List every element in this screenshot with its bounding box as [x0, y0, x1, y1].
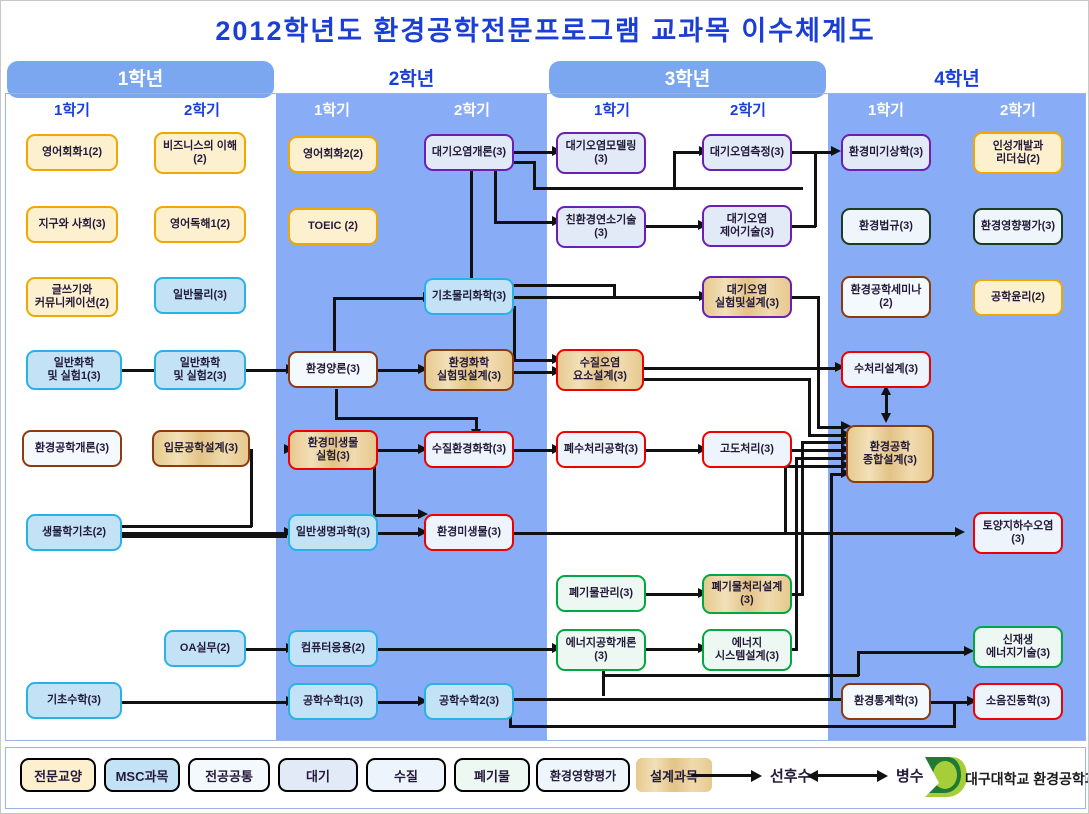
edge-left-riser-v [784, 465, 787, 532]
edge-c19-c32 [378, 648, 555, 651]
edge-c31-c37 [646, 593, 700, 596]
course-box[interactable]: 수처리설계(3) [841, 351, 931, 388]
edge-c21-c35-h2 [613, 296, 701, 299]
course-box[interactable]: 영어회화1(2) [26, 134, 118, 171]
course-box[interactable]: 비즈니스의 이해 (2) [154, 132, 246, 174]
edge-c35-c43-v [817, 296, 820, 428]
edge-c26-c50-v2 [953, 701, 956, 727]
edge-c33-c39-head [831, 146, 841, 156]
edge-c6-riser [250, 449, 253, 527]
edge-c29-c42 [644, 367, 837, 370]
course-box[interactable]: 입문공학설계(3) [152, 430, 250, 467]
course-box[interactable]: 일반화학 및 실험2(3) [154, 350, 246, 390]
edge-c12-h2 [122, 525, 252, 528]
corequisite-arrow-head-right [877, 770, 888, 782]
course-box[interactable]: 환경미생물 실험(3) [288, 430, 378, 470]
edge-c16-c24-h [335, 417, 477, 420]
corequisite-arrow-head-left [807, 770, 818, 782]
edge-c6-to-c17 [122, 535, 287, 538]
edge-c34-c39-h [792, 225, 816, 228]
course-box[interactable]: 고도처리(3) [702, 431, 792, 468]
semester-label-4-1: 1학기 [826, 99, 946, 120]
course-box[interactable]: 폐기물처리설계 (3) [702, 574, 792, 614]
prerequisite-arrow-line [692, 774, 754, 777]
edge-c22-c29-v [513, 306, 516, 361]
edge-c17-c25-h2 [373, 514, 421, 517]
university-department-label: 대구대학교 환경공학과 [965, 769, 1089, 789]
semester-label-2-1: 1학기 [272, 99, 392, 120]
course-box[interactable]: 토양지하수오염 (3) [973, 512, 1063, 554]
course-box[interactable]: TOEIC (2) [288, 208, 378, 245]
course-box[interactable]: 환경공학세미나 (2) [841, 276, 931, 318]
edge-c18-c25 [378, 532, 420, 535]
course-box[interactable]: 환경영향평가(3) [973, 208, 1063, 245]
edge-c23-c29 [514, 371, 555, 374]
edge-c30-c36 [646, 449, 700, 452]
course-box[interactable]: 인성개발과 리더십(2) [973, 132, 1063, 174]
course-box[interactable]: 환경미생물(3) [424, 514, 514, 551]
edge-c6-c18 [122, 532, 286, 535]
page-title: 2012학년도 환경공학전문프로그램 교과목 이수체계도 [1, 9, 1089, 48]
edge-c32-c38 [646, 648, 700, 651]
edge-c35-c43-h [792, 296, 820, 299]
course-box[interactable]: 기초물리화학(3) [424, 278, 514, 315]
edge-c21-c33-h3 [673, 151, 701, 154]
course-box[interactable]: 에너지 시스템설계(3) [702, 629, 792, 671]
course-box[interactable]: 수질오염 요소설계(3) [556, 349, 644, 391]
course-box[interactable]: 폐수처리공학(3) [556, 431, 646, 468]
edge-c13-c19 [246, 648, 288, 651]
course-box[interactable]: 공학수학1(3) [288, 683, 378, 720]
edge-c21-c33-v [533, 161, 536, 189]
course-box[interactable]: 컴퓨터응용(2) [288, 630, 378, 667]
edge-c42-c43-down [881, 413, 891, 423]
semester-label-1-1: 1학기 [12, 99, 132, 120]
edge-c35-c43-h2 [817, 426, 843, 429]
edge-c17-c24 [378, 449, 420, 452]
corequisite-arrow-line [818, 774, 880, 777]
course-box[interactable]: 환경통계학(3) [841, 683, 931, 720]
edge-c21-c35-v1 [470, 171, 473, 287]
edge-c16-c23 [378, 369, 420, 372]
edge-c37-c43-v [801, 449, 804, 595]
course-box[interactable]: 에너지공학개론 (3) [556, 629, 646, 671]
edge-left-riser-h [784, 465, 843, 468]
semester-label-2-2: 2학기 [412, 99, 532, 120]
edge-c28-c34 [646, 225, 700, 228]
course-box[interactable]: 환경미기상학(3) [841, 134, 931, 171]
course-box[interactable]: 폐기물관리(3) [556, 575, 646, 612]
course-box[interactable]: 소음진동학(3) [973, 683, 1063, 720]
year-banner-1: 1학년 [7, 61, 274, 98]
edge-c21-c28-h [494, 221, 554, 224]
edge-c22-c35 [514, 296, 614, 299]
edge-c16-c22-v [333, 297, 336, 353]
semester-label-3-2: 2학기 [688, 99, 808, 120]
course-box[interactable]: 환경공학 종합설계(3) [846, 425, 934, 483]
course-box[interactable]: 환경법규(3) [841, 208, 931, 245]
course-box[interactable]: OA실무(2) [164, 630, 246, 667]
course-box[interactable]: 대기오염측정(3) [702, 134, 792, 171]
course-box[interactable]: 대기오염 제어기술(3) [702, 205, 792, 247]
edge-c21-c33-h2 [533, 187, 803, 190]
course-box[interactable]: 영어회화2(2) [288, 136, 378, 173]
legend-item-general[interactable]: 전문교양 [20, 758, 96, 792]
edge-c25-c48 [514, 532, 957, 535]
edge-c29-c43-v [808, 378, 811, 434]
semester-label-4-2: 2학기 [958, 99, 1078, 120]
edge-c29-c43-h2 [808, 434, 843, 437]
edge-c36-c43-h2 [801, 441, 843, 444]
year-banner-4: 4학년 [830, 61, 1084, 98]
course-box[interactable]: 대기오염모델링 (3) [556, 132, 646, 174]
semester-label-3-1: 1학기 [552, 99, 672, 120]
curriculum-flowchart: 2012학년도 환경공학전문프로그램 교과목 이수체계도 1학년 2학년 3학년… [0, 0, 1089, 814]
course-box[interactable]: 신재생 에너지기술(3) [973, 626, 1063, 668]
legend-item-eia[interactable]: 환경영향평가 [536, 758, 630, 792]
course-box[interactable]: 일반물리(3) [154, 277, 246, 314]
course-box[interactable]: 공학윤리(2) [973, 279, 1063, 316]
edge-c34-c39-v [814, 151, 817, 227]
edge-c29-c43-h [644, 378, 811, 381]
course-box[interactable]: 공학수학2(3) [424, 683, 514, 720]
course-box[interactable]: 환경양론(3) [288, 351, 378, 388]
edge-c24-c30 [514, 449, 555, 452]
edge-c21-c33-v2 [673, 151, 676, 189]
prerequisite-arrow-head [751, 770, 762, 782]
edge-c16-c24-v1 [335, 389, 338, 419]
semester-label-1-2: 2학기 [142, 99, 262, 120]
course-box[interactable]: 글쓰기와 커뮤니케이션(2) [26, 277, 118, 317]
edge-c4-c11 [122, 369, 158, 372]
edge-c37-c43-h2 [801, 449, 843, 452]
edge-c33-c39-h2 [809, 151, 833, 154]
course-box[interactable]: 일반생명과학(3) [288, 514, 378, 551]
course-box[interactable]: 친환경연소기술 (3) [556, 206, 646, 248]
edge-c25-c48-head [955, 527, 965, 537]
legend-item-waste[interactable]: 폐기물 [454, 758, 530, 792]
course-box[interactable]: 환경화학 실험및설계(3) [424, 349, 514, 391]
course-box[interactable]: 생물학기초(2) [26, 514, 122, 551]
edge-c22-c29-h [513, 359, 555, 362]
edge-c11-c16 [246, 369, 288, 372]
legend-item-air[interactable]: 대기 [278, 758, 358, 792]
course-box[interactable]: 영어독해1(2) [154, 206, 246, 243]
university-logo-icon [921, 753, 967, 801]
edge-c32-c49-h2 [857, 651, 967, 654]
edge-c7-c20 [122, 701, 288, 704]
course-box[interactable]: 지구와 사회(3) [26, 206, 118, 243]
course-box[interactable]: 일반화학 및 실험1(3) [26, 350, 122, 390]
edge-c16-c22-h [333, 297, 425, 300]
legend-coreq-label: 병수 [896, 765, 924, 786]
year-banner-2: 2학년 [278, 61, 545, 98]
edge-c26-c50-h [509, 725, 956, 728]
edge-c44-c50 [929, 701, 969, 704]
edge-stat-riser-v [830, 473, 833, 701]
course-box[interactable]: 대기오염개론(3) [424, 134, 514, 171]
legend-item-water[interactable]: 수질 [366, 758, 446, 792]
course-box[interactable]: 기초수학(3) [26, 682, 122, 719]
edge-c20-c26 [378, 701, 420, 704]
edge-c21-c28-v [494, 171, 497, 223]
year-banner-3: 3학년 [549, 61, 826, 98]
edge-c21-c27 [514, 151, 554, 154]
legend-item-core[interactable]: 전공공통 [188, 758, 270, 792]
course-box[interactable]: 대기오염 실험및설계(3) [702, 276, 792, 318]
edge-c38-c43-v [795, 457, 798, 650]
edge-c32-c49-h1 [602, 674, 859, 677]
course-box[interactable]: 환경공학개론(3) [22, 430, 122, 467]
edge-c26-c44-h1 [514, 698, 844, 701]
legend-item-msc[interactable]: MSC과목 [104, 758, 180, 792]
legend-prereq-label: 선후수 [770, 765, 811, 786]
edge-c32-c49-v2 [857, 651, 860, 676]
course-box[interactable]: 수질환경화학(3) [424, 431, 514, 468]
edge-c38-c43-h2 [795, 457, 843, 460]
